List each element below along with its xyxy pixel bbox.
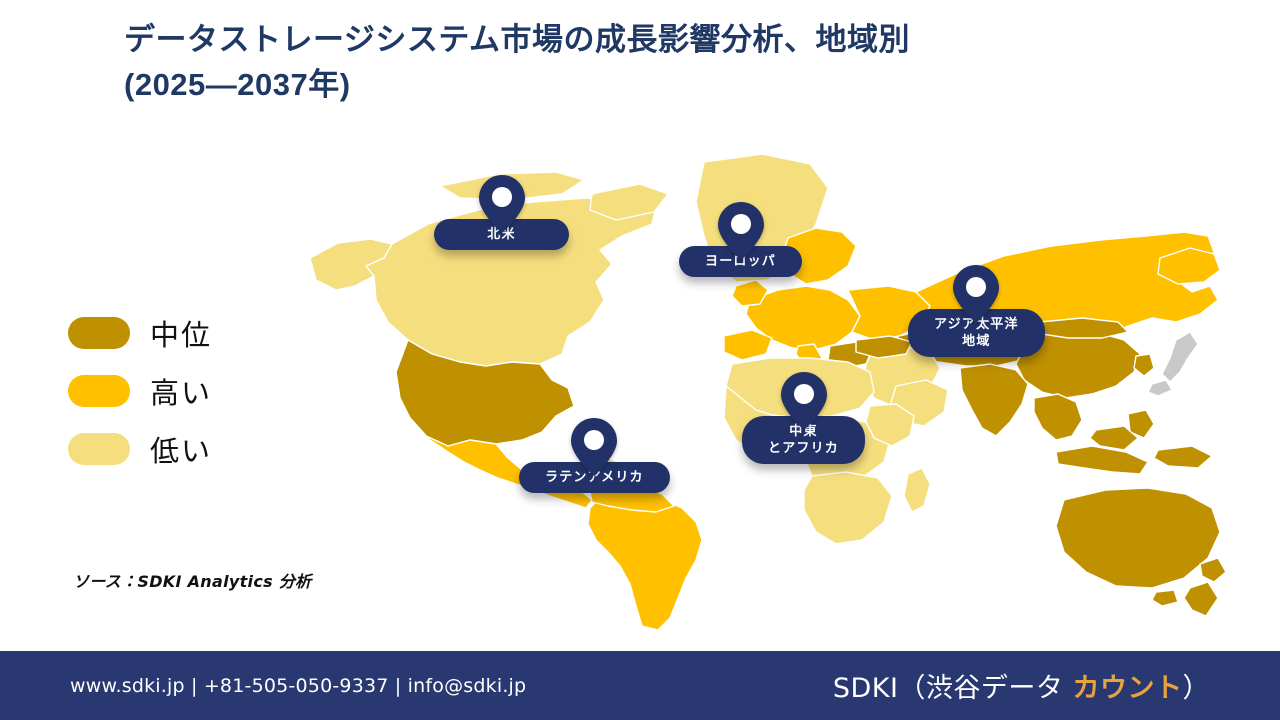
region-japan-south: [1148, 380, 1172, 396]
legend-item-low: 低い: [68, 428, 212, 470]
region-tasmania: [1152, 590, 1178, 606]
map-pin-icon: [479, 175, 525, 233]
region-new-guinea: [1154, 446, 1212, 468]
marker-latin-america[interactable]: ラテンアメリカ: [519, 418, 670, 493]
map-pin-icon: [718, 202, 764, 260]
map-pin-icon: [953, 265, 999, 323]
region-india: [960, 364, 1028, 436]
region-australia: [1056, 488, 1220, 588]
sdki-logo: SDKI（渋谷データ カウント）: [833, 666, 1210, 705]
logo-main-text: SDKI（渋谷データ: [833, 673, 1073, 704]
region-iberia: [724, 330, 772, 360]
legend-item-high: 高い: [68, 370, 212, 412]
legend-swatch-high: [68, 375, 130, 407]
region-indochina: [1034, 394, 1082, 440]
region-southern-africa: [804, 472, 892, 544]
legend-item-medium: 中位: [68, 312, 212, 354]
logo-accent-text: カウント: [1073, 673, 1183, 704]
map-legend: 中位 高い 低い: [68, 312, 212, 470]
region-baffin-island: [590, 184, 668, 220]
region-indonesia: [1056, 446, 1148, 474]
page-title-line-2: (2025—2037年): [124, 63, 1184, 108]
marker-north-america[interactable]: 北米: [434, 175, 569, 250]
legend-swatch-medium: [68, 317, 130, 349]
region-new-zealand-south: [1184, 582, 1218, 616]
world-map-container: 北米 ヨーロッパ アジア太平洋 地域 中東 とアフリカ ラテンアメリカ: [300, 140, 1230, 630]
map-pin-icon: [571, 418, 617, 476]
legend-swatch-low: [68, 433, 130, 465]
page-title: データストレージシステム市場の成長影響分析、地域別 (2025—2037年): [124, 18, 1184, 108]
region-madagascar: [904, 468, 930, 512]
marker-asia-pacific[interactable]: アジア太平洋 地域: [908, 265, 1045, 357]
source-note: ソース：SDKI Analytics 分析: [73, 568, 311, 592]
legend-label-low: 低い: [150, 428, 212, 470]
footer-contact-info[interactable]: www.sdki.jp | +81-505-050-9337 | info@sd…: [70, 675, 526, 697]
page-title-line-1: データストレージシステム市場の成長影響分析、地域別: [124, 18, 1184, 63]
logo-tail-text: ）: [1183, 673, 1211, 704]
marker-middle-east-africa[interactable]: 中東 とアフリカ: [742, 372, 865, 464]
marker-europe[interactable]: ヨーロッパ: [679, 202, 802, 277]
map-pin-icon: [781, 372, 827, 430]
footer-bar: www.sdki.jp | +81-505-050-9337 | info@sd…: [0, 651, 1280, 720]
legend-label-medium: 中位: [150, 312, 212, 354]
region-turkey: [856, 336, 912, 358]
region-korea: [1134, 354, 1154, 376]
region-japan: [1162, 332, 1198, 382]
legend-label-high: 高い: [150, 370, 212, 412]
region-mongolia: [1040, 318, 1128, 338]
